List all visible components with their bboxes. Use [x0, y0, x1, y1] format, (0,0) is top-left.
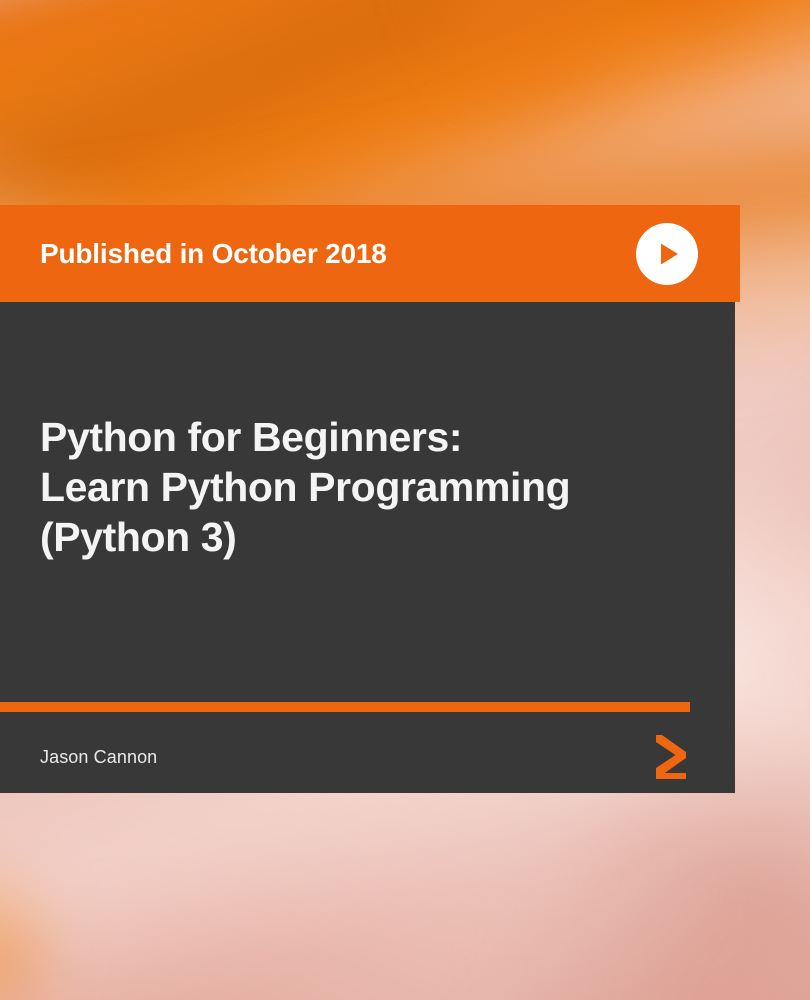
accent-divider [0, 702, 690, 712]
play-circle-icon[interactable] [636, 223, 698, 285]
published-band: Published in October 2018 [0, 205, 740, 302]
page-title: Python for Beginners: Learn Python Progr… [40, 412, 700, 562]
course-info-panel: Python for Beginners: Learn Python Progr… [0, 302, 735, 793]
terminal-prompt-icon [653, 733, 693, 781]
title-line-2: Learn Python Programming [40, 462, 700, 512]
author-row: Jason Cannon [0, 727, 735, 787]
title-line-3: (Python 3) [40, 512, 700, 562]
author-label: Jason Cannon [40, 747, 157, 768]
title-line-1: Python for Beginners: [40, 412, 700, 462]
published-date-label: Published in October 2018 [40, 238, 387, 270]
course-thumbnail-card: Published in October 2018 Python for Beg… [0, 0, 810, 1000]
